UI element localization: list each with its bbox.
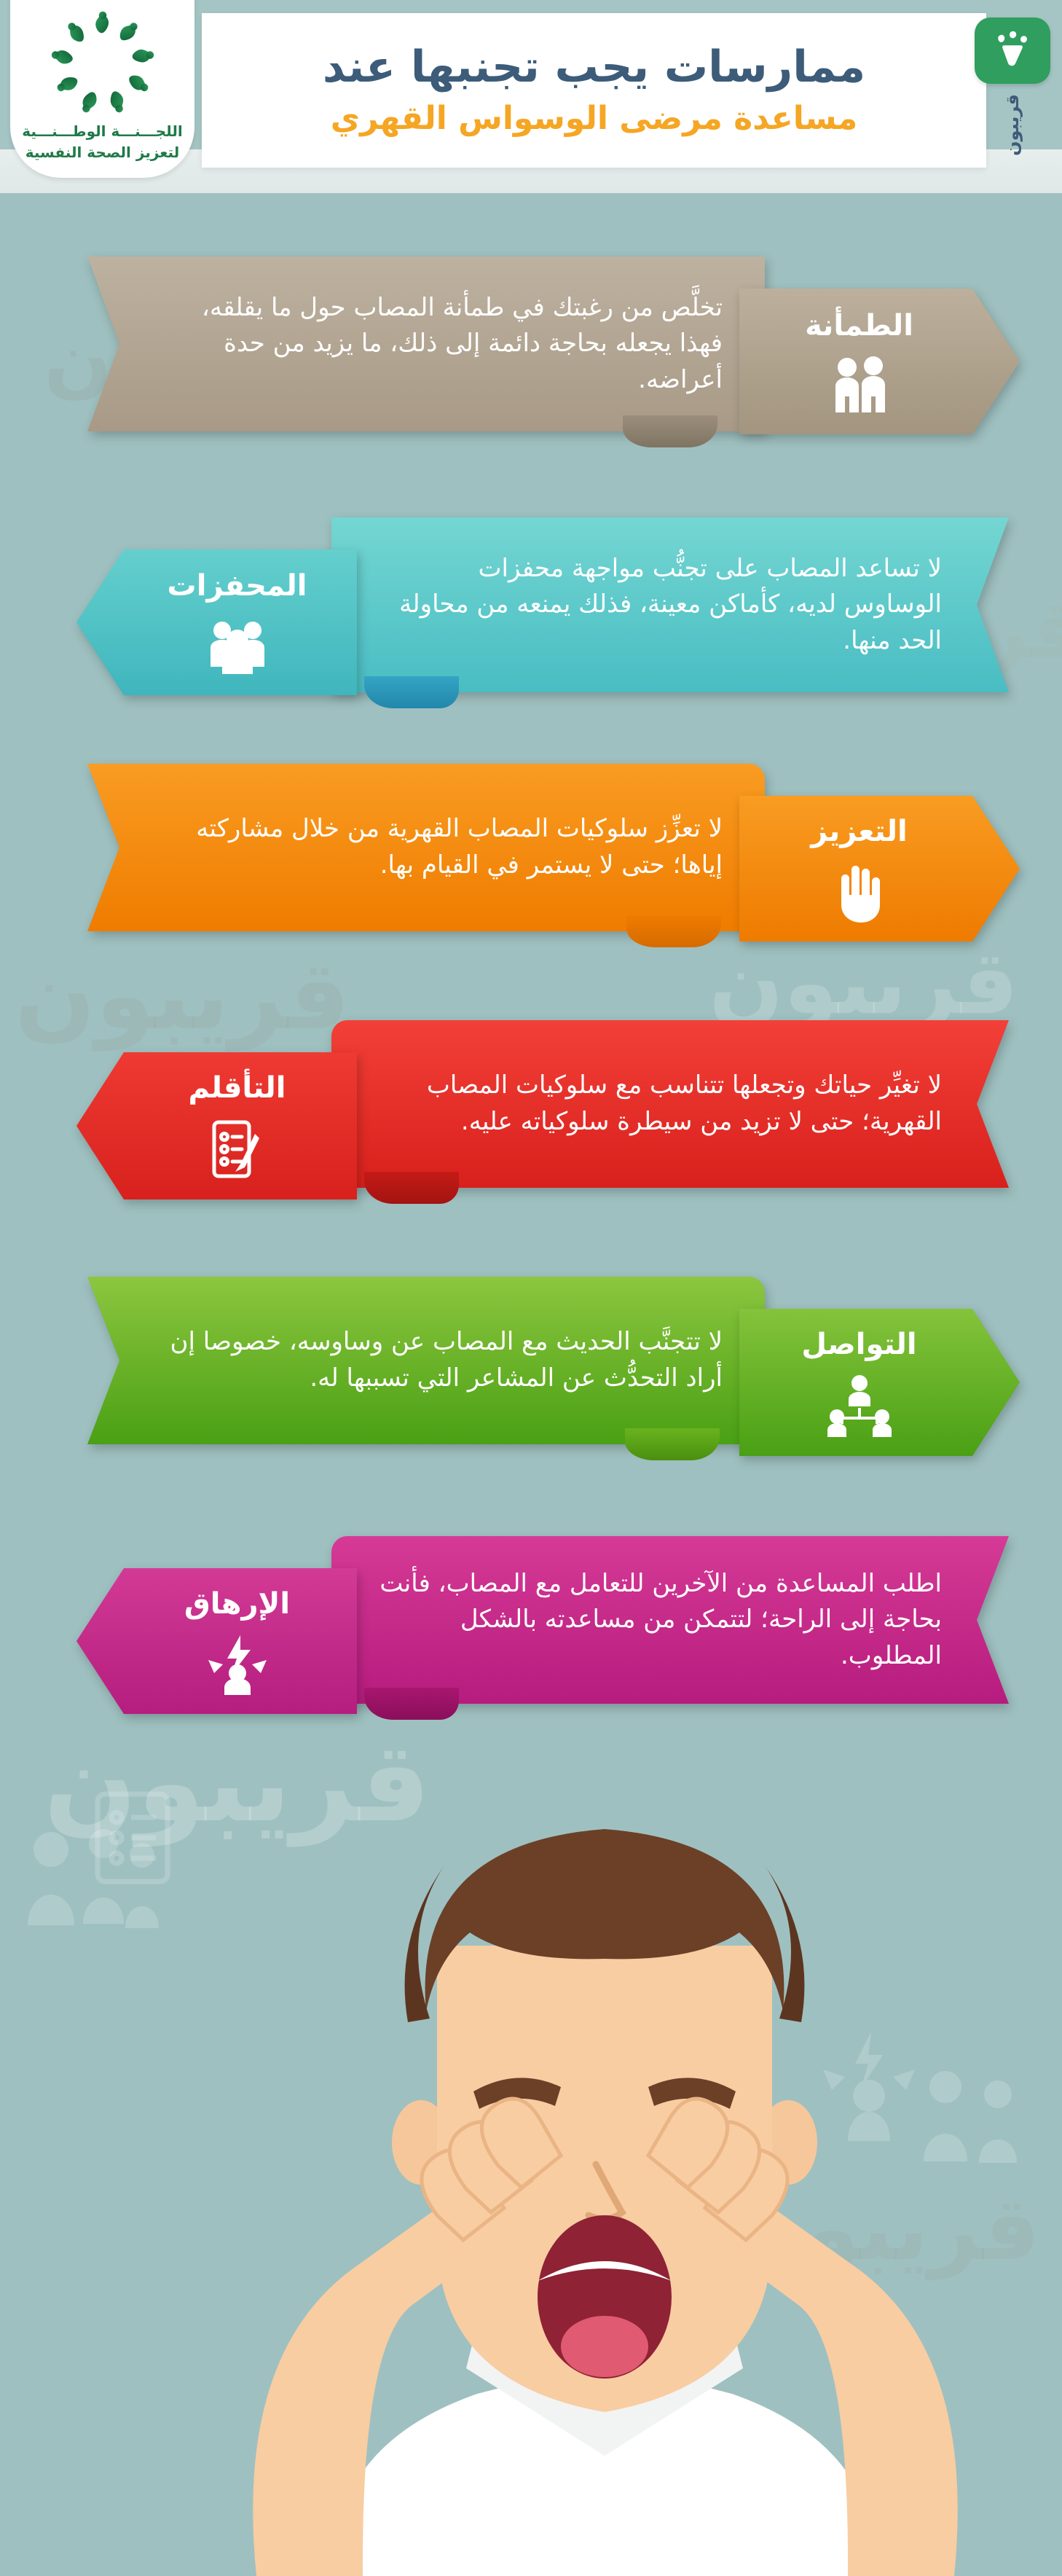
badge-box xyxy=(975,17,1050,84)
card-curl xyxy=(623,415,717,447)
group-people-icon xyxy=(205,616,270,676)
card-body-shape: لا تتجنَّب الحديث مع المصاب عن وساوسه، خ… xyxy=(87,1277,765,1444)
card-body: تخلَّص من رغبتك في طمأنة المصاب حول ما ي… xyxy=(87,257,765,431)
card-label-title: التواصل xyxy=(801,1328,916,1361)
card-body-text: لا تساعد المصاب على تجنُّب مواجهة محفزات… xyxy=(331,529,1009,681)
card-label: المحفزات xyxy=(76,549,357,695)
card-curl xyxy=(364,1688,459,1720)
card-body-shape: تخلَّص من رغبتك في طمأنة المصاب حول ما ي… xyxy=(87,257,765,431)
title-card: ممارسات يجب تجنبها عند مساعدة مرضى الوسو… xyxy=(202,13,986,168)
card-body-shape: لا تعزِّز سلوكيات المصاب القهرية من خلال… xyxy=(87,764,765,931)
card-body-text: لا تتجنَّب الحديث مع المصاب عن وساوسه، خ… xyxy=(87,1302,765,1418)
card-body: لا تغيِّر حياتك وتجعلها تتناسب مع سلوكيا… xyxy=(331,1020,1009,1188)
card-curl xyxy=(364,676,459,708)
card-body: لا تساعد المصاب على تجنُّب مواجهة محفزات… xyxy=(331,517,1009,692)
card-body-text: لا تغيِّر حياتك وتجعلها تتناسب مع سلوكيا… xyxy=(331,1046,1009,1162)
card-label-title: التأقلم xyxy=(189,1071,286,1105)
page-subtitle: مساعدة مرضى الوسواس القهري xyxy=(331,101,857,136)
card-reassurance: تخلَّص من رغبتك في طمأنة المصاب حول ما ي… xyxy=(0,257,1062,475)
card-body-text: لا تعزِّز سلوكيات المصاب القهرية من خلال… xyxy=(87,789,765,905)
stressed-person-icon xyxy=(204,1634,271,1695)
card-label-title: الطمأنة xyxy=(805,309,913,342)
card-adaptation: لا تغيِّر حياتك وتجعلها تتناسب مع سلوكيا… xyxy=(0,1020,1062,1239)
card-label-shape: الإرهاق xyxy=(76,1568,357,1714)
badge-label: قريبون xyxy=(1002,94,1023,156)
card-label-shape: التعزيز xyxy=(739,796,1020,941)
network-people-icon xyxy=(826,1374,893,1437)
card-label: التواصل xyxy=(739,1309,1020,1456)
card-curl xyxy=(626,915,721,947)
card-reinforcement: لا تعزِّز سلوكيات المصاب القهرية من خلال… xyxy=(0,764,1062,982)
logo-line-2: لتعزيز الصحة النفسية xyxy=(25,144,179,161)
card-body-shape: لا تغيِّر حياتك وتجعلها تتناسب مع سلوكيا… xyxy=(331,1020,1009,1188)
stop-hand-icon xyxy=(834,861,885,923)
qareeboon-app-icon xyxy=(990,27,1035,75)
card-label: الإرهاق xyxy=(76,1568,357,1714)
card-label-shape: الطمأنة xyxy=(739,289,1020,434)
people-circle-logo-icon xyxy=(48,9,157,118)
organization-logo: اللجـــنـــة الوطـــنـــية لتعزيز الصحة … xyxy=(10,0,194,178)
card-body-shape: لا تساعد المصاب على تجنُّب مواجهة محفزات… xyxy=(331,517,1009,692)
stressed-man-holding-head-illustration xyxy=(0,1705,1062,2576)
card-curl xyxy=(625,1428,720,1460)
page-header: اللجـــنـــة الوطـــنـــية لتعزيز الصحة … xyxy=(0,0,1062,193)
card-curl xyxy=(364,1172,459,1204)
card-label-title: الإرهاق xyxy=(184,1587,290,1621)
card-body: لا تعزِّز سلوكيات المصاب القهرية من خلال… xyxy=(87,764,765,931)
card-label: التأقلم xyxy=(76,1052,357,1199)
card-label: التعزيز xyxy=(739,796,1020,941)
card-label-shape: التواصل xyxy=(739,1309,1020,1456)
two-people-icon xyxy=(828,356,891,414)
card-triggers: لا تساعد المصاب على تجنُّب مواجهة محفزات… xyxy=(0,517,1062,736)
card-body-shape: اطلب المساعدة من الآخرين للتعامل مع المص… xyxy=(331,1536,1009,1704)
card-communication: لا تتجنَّب الحديث مع المصاب عن وساوسه، خ… xyxy=(0,1277,1062,1495)
card-label: الطمأنة xyxy=(739,289,1020,434)
page-title: ممارسات يجب تجنبها عند xyxy=(323,44,865,91)
card-body-text: اطلب المساعدة من الآخرين للتعامل مع المص… xyxy=(331,1544,1009,1696)
checklist-pen-icon xyxy=(208,1118,267,1181)
app-badge[interactable]: قريبون xyxy=(975,17,1050,156)
logo-line-1: اللجـــنـــة الوطـــنـــية xyxy=(22,122,182,140)
card-label-title: التعزيز xyxy=(811,815,907,848)
card-label-shape: المحفزات xyxy=(76,549,357,695)
card-body: اطلب المساعدة من الآخرين للتعامل مع المص… xyxy=(331,1536,1009,1704)
card-label-shape: التأقلم xyxy=(76,1052,357,1199)
card-body-text: تخلَّص من رغبتك في طمأنة المصاب حول ما ي… xyxy=(87,268,765,420)
card-label-title: المحفزات xyxy=(168,569,307,603)
card-body: لا تتجنَّب الحديث مع المصاب عن وساوسه، خ… xyxy=(87,1277,765,1444)
